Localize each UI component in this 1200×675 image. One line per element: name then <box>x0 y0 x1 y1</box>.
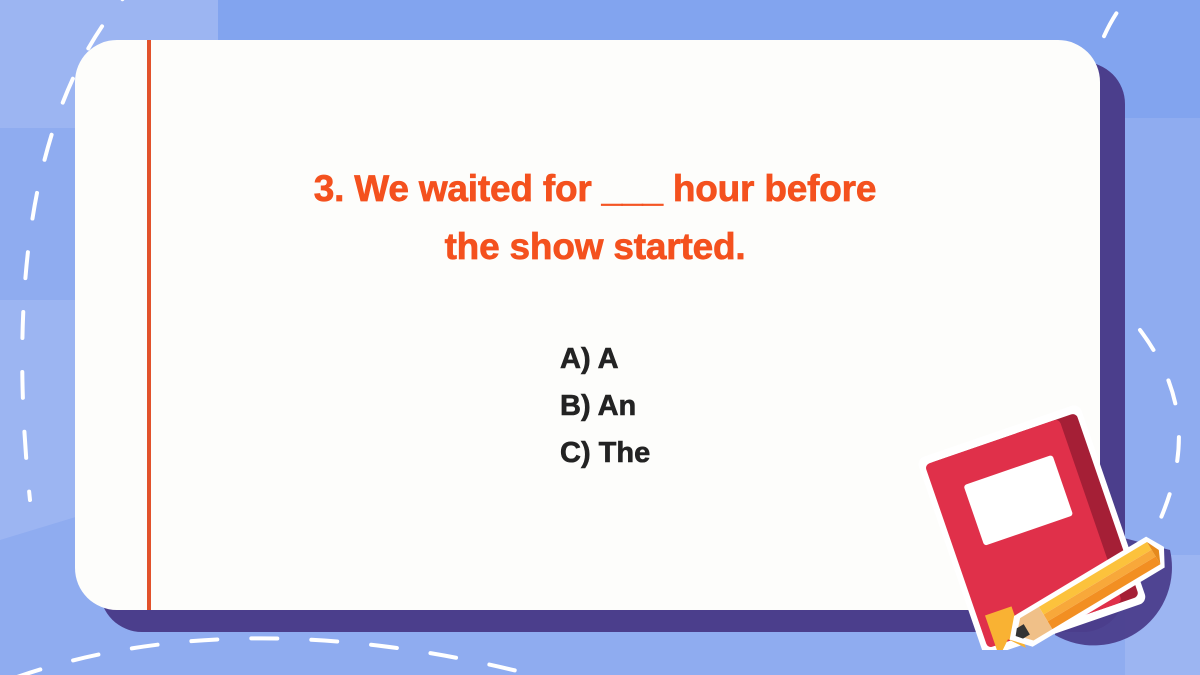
question-text: 3. We waited for ___ hour before the sho… <box>245 160 945 277</box>
answer-option-a[interactable]: A) A <box>560 345 650 374</box>
question-line-2: the show started. <box>245 218 945 276</box>
slide-canvas: 3. We waited for ___ hour before the sho… <box>0 0 1200 675</box>
answer-option-b[interactable]: B) An <box>560 392 650 421</box>
question-line-1: 3. We waited for ___ hour before <box>245 160 945 218</box>
answer-options-list: A) A B) An C) The <box>560 345 650 468</box>
book-and-pencil-illustration <box>905 400 1200 650</box>
answer-option-c[interactable]: C) The <box>560 439 650 468</box>
